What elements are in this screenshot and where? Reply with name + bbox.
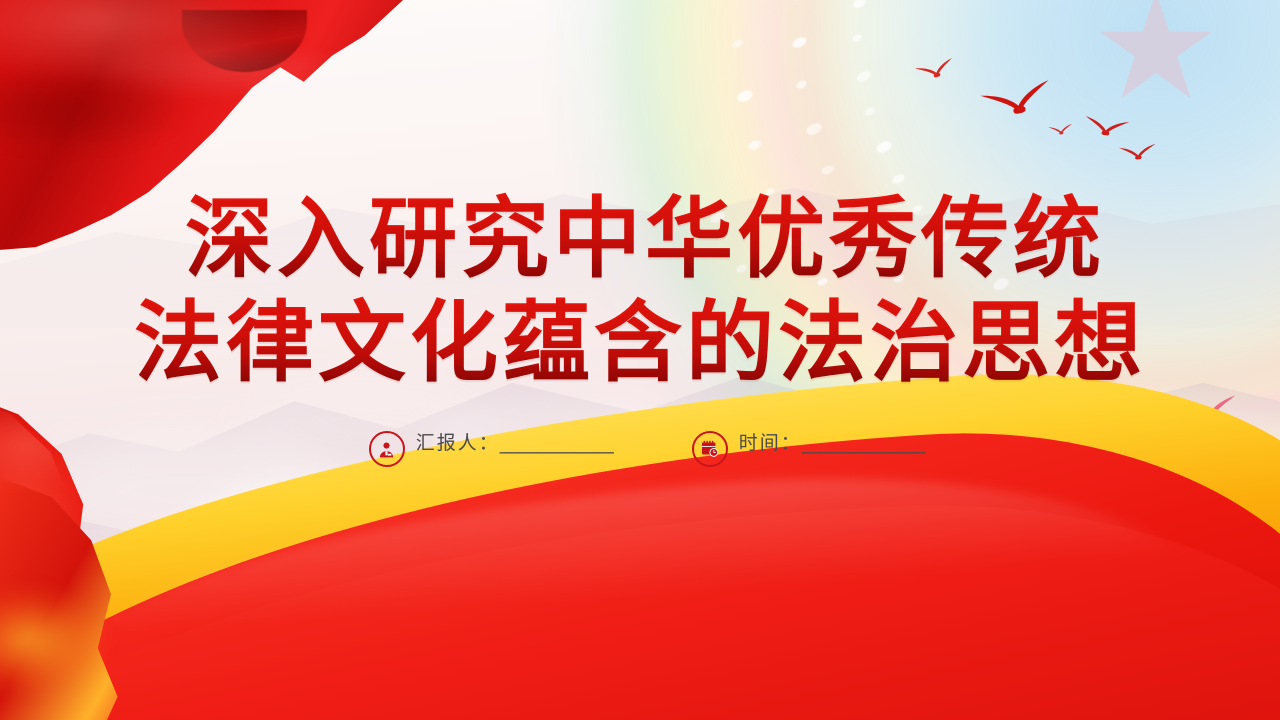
presenter-label-value: 汇报人：____________ <box>416 430 614 457</box>
date-value[interactable]: _____________ <box>802 432 926 454</box>
red-silk-swirl-glow <box>0 560 170 720</box>
title-line-2: 法律文化蕴含的法治思想 <box>0 290 1280 394</box>
presenter-label: 汇报人： <box>416 432 500 454</box>
person-icon <box>369 431 405 467</box>
presenter-value[interactable]: ____________ <box>500 432 614 454</box>
date-label-value: 时间：_____________ <box>739 430 926 457</box>
page-title: 深入研究中华优秀传统 法律文化蕴含的法治思想 <box>0 186 1280 394</box>
title-line-1: 深入研究中华优秀传统 <box>0 186 1280 290</box>
presentation-slide: 深入研究中华优秀传统 法律文化蕴含的法治思想 汇报人：____________ <box>0 0 1280 720</box>
presenter-field[interactable]: 汇报人：____________ <box>369 430 614 467</box>
slide-meta-row: 汇报人：____________ 时间：__________ <box>0 430 1280 467</box>
calendar-clock-icon <box>692 431 728 467</box>
date-field[interactable]: 时间：_____________ <box>692 430 926 467</box>
date-label: 时间： <box>739 432 802 454</box>
